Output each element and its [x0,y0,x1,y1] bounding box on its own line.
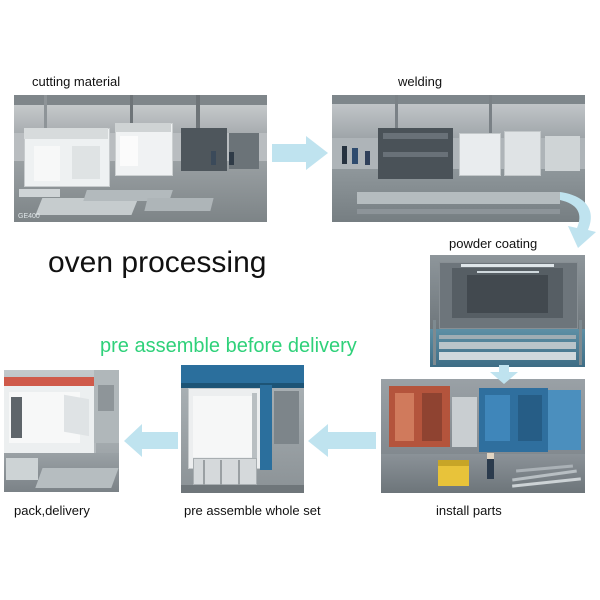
arrow-cutting-to-welding [272,134,330,172]
step-label-powder-coating: powder coating [449,236,537,251]
photo-install-parts [381,379,585,493]
process-flow-diagram: cutting material GE400 welding [0,0,600,600]
photo-watermark: GE400 [18,213,40,220]
photo-welding [332,95,585,222]
arrow-pre-assemble-to-pack-delivery [122,423,180,459]
arrow-welding-to-powder-coating [558,186,600,256]
step-label-install-parts: install parts [436,503,502,518]
photo-powder-coating [430,255,585,367]
photo-cutting-material: GE400 [14,95,267,222]
highlight-label-pre-assemble-before-delivery: pre assemble before delivery [100,335,357,358]
step-label-pre-assemble-whole-set: pre assemble whole set [184,503,321,518]
step-label-cutting: cutting material [32,74,120,89]
diagram-title: oven processing [48,246,266,280]
step-label-welding: welding [398,74,442,89]
photo-pack-delivery [4,370,119,492]
photo-pre-assemble [181,365,304,493]
step-label-pack-delivery: pack,delivery [14,503,90,518]
arrow-install-parts-to-pre-assemble [306,423,378,459]
arrow-powder-coating-to-install-parts [487,365,521,385]
